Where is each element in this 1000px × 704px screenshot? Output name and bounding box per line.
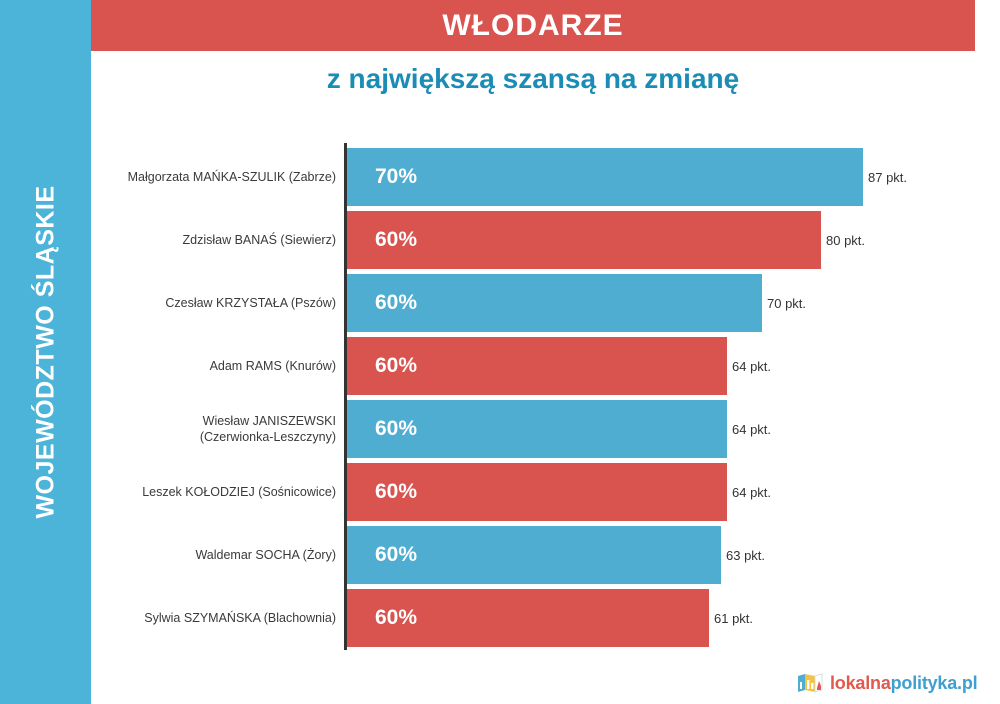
bar-category-label: Leszek KOŁODZIEJ (Sośnicowice)	[76, 463, 336, 521]
logo-text-part2: polityka.pl	[891, 673, 978, 693]
bar-percent-label: 70%	[375, 148, 417, 206]
bar-percent-label: 60%	[375, 211, 417, 269]
bar-category-label-line1: Sylwia SZYMAŃSKA (Blachownia)	[144, 610, 336, 626]
site-logo-text: lokalnapolityka.pl	[830, 673, 977, 694]
bar-percent-label: 60%	[375, 463, 417, 521]
bar-percent-label: 60%	[375, 526, 417, 584]
bar-percent-label: 60%	[375, 337, 417, 395]
bar-chart: Małgorzata MAŃKA-SZULIK (Zabrze)70%87 pk…	[0, 0, 1000, 704]
bar-value-label: 87 pkt.	[868, 148, 907, 206]
bar-value-label: 63 pkt.	[726, 526, 765, 584]
bar-percent-label: 60%	[375, 274, 417, 332]
bar-row: Wiesław JANISZEWSKI(Czerwionka-Leszczyny…	[0, 400, 1000, 458]
bar-category-label-line1: Czesław KRZYSTAŁA (Pszów)	[165, 295, 336, 311]
bar-value-label: 80 pkt.	[826, 211, 865, 269]
bar-value-label: 70 pkt.	[767, 274, 806, 332]
map-chart-icon	[797, 672, 823, 694]
bar-row: Adam RAMS (Knurów)60%64 pkt.	[0, 337, 1000, 395]
bar-category-label: Wiesław JANISZEWSKI(Czerwionka-Leszczyny…	[76, 400, 336, 458]
bar-category-label-line1: Małgorzata MAŃKA-SZULIK (Zabrze)	[128, 169, 336, 185]
bar-category-label-line1: Zdzisław BANAŚ (Siewierz)	[182, 232, 336, 248]
bar-category-label: Czesław KRZYSTAŁA (Pszów)	[76, 274, 336, 332]
infographic-page: WOJEWÓDZTWO ŚLĄSKIE WŁODARZE z największ…	[0, 0, 1000, 704]
bar-category-label-line2: (Czerwionka-Leszczyny)	[200, 429, 336, 445]
bar-category-label-line1: Adam RAMS (Knurów)	[210, 358, 336, 374]
bar-category-label-line1: Waldemar SOCHA (Żory)	[195, 547, 336, 563]
bar-row: Leszek KOŁODZIEJ (Sośnicowice)60%64 pkt.	[0, 463, 1000, 521]
bar-value-label: 64 pkt.	[732, 400, 771, 458]
bar-percent-label: 60%	[375, 400, 417, 458]
bar-category-label: Sylwia SZYMAŃSKA (Blachownia)	[76, 589, 336, 647]
bar-percent-label: 60%	[375, 589, 417, 647]
bar-category-label: Małgorzata MAŃKA-SZULIK (Zabrze)	[76, 148, 336, 206]
bar-category-label-line1: Leszek KOŁODZIEJ (Sośnicowice)	[142, 484, 336, 500]
bar-rect	[347, 211, 821, 269]
bar-category-label: Zdzisław BANAŚ (Siewierz)	[76, 211, 336, 269]
logo-text-part1: lokalna	[830, 673, 891, 693]
bar-value-label: 61 pkt.	[714, 589, 753, 647]
bar-row: Małgorzata MAŃKA-SZULIK (Zabrze)70%87 pk…	[0, 148, 1000, 206]
site-logo[interactable]: lokalnapolityka.pl	[797, 670, 977, 696]
bar-row: Czesław KRZYSTAŁA (Pszów)60%70 pkt.	[0, 274, 1000, 332]
bar-category-label-line1: Wiesław JANISZEWSKI	[200, 413, 336, 429]
bar-row: Waldemar SOCHA (Żory)60%63 pkt.	[0, 526, 1000, 584]
bar-category-label: Waldemar SOCHA (Żory)	[76, 526, 336, 584]
bar-value-label: 64 pkt.	[732, 337, 771, 395]
bar-category-label: Adam RAMS (Knurów)	[76, 337, 336, 395]
bar-value-label: 64 pkt.	[732, 463, 771, 521]
bar-row: Zdzisław BANAŚ (Siewierz)60%80 pkt.	[0, 211, 1000, 269]
bar-row: Sylwia SZYMAŃSKA (Blachownia)60%61 pkt.	[0, 589, 1000, 647]
bar-rect	[347, 148, 863, 206]
